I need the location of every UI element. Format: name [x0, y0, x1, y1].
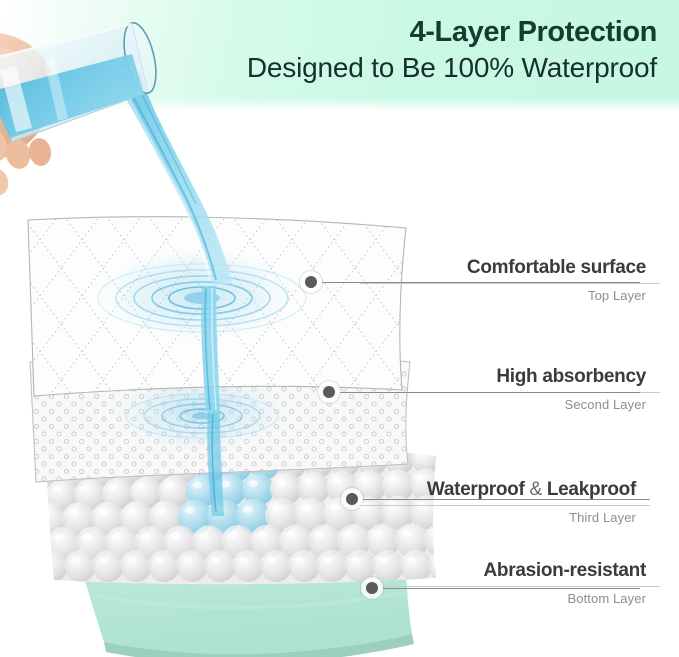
callout-subtitle-3: Third Layer	[350, 510, 650, 525]
callout-title-3-part-a: Waterproof	[427, 479, 530, 500]
callout-top-layer: Comfortable surface Top Layer	[360, 256, 660, 303]
callout-title-4: Abrasion-resistant	[360, 559, 660, 583]
callout-dot-bottom-layer[interactable]	[361, 577, 383, 599]
callout-dot-top-layer[interactable]	[300, 271, 322, 293]
callout-title-3-part-b: Leakproof	[542, 479, 636, 500]
leader-line-4	[382, 588, 640, 589]
header-text-block: 4-Layer Protection Designed to Be 100% W…	[247, 16, 657, 84]
leader-line-1	[322, 282, 640, 283]
callout-subtitle-1: Top Layer	[360, 288, 660, 303]
hand-pouring-glass-icon	[0, 0, 212, 226]
callout-bottom-layer: Abrasion-resistant Bottom Layer	[360, 559, 660, 606]
ampersand-glyph: &	[530, 479, 542, 500]
callout-title-1: Comfortable surface	[360, 256, 660, 280]
callout-rule-4	[360, 586, 660, 587]
callout-second-layer: High absorbency Second Layer	[360, 365, 660, 412]
infographic-canvas: 4-Layer Protection Designed to Be 100% W…	[0, 0, 679, 657]
callout-subtitle-2: Second Layer	[360, 397, 660, 412]
callout-title-2: High absorbency	[360, 365, 660, 389]
page-title: 4-Layer Protection	[247, 16, 657, 50]
callout-subtitle-4: Bottom Layer	[360, 591, 660, 606]
leader-line-3	[362, 499, 650, 500]
page-subtitle: Designed to Be 100% Waterproof	[247, 51, 657, 84]
callout-dot-third-layer[interactable]	[341, 488, 363, 510]
callout-rule-3	[350, 505, 650, 506]
callout-dot-second-layer[interactable]	[318, 381, 340, 403]
leader-line-2	[340, 392, 640, 393]
callout-third-layer: Waterproof & Leakproof Third Layer	[350, 478, 650, 525]
